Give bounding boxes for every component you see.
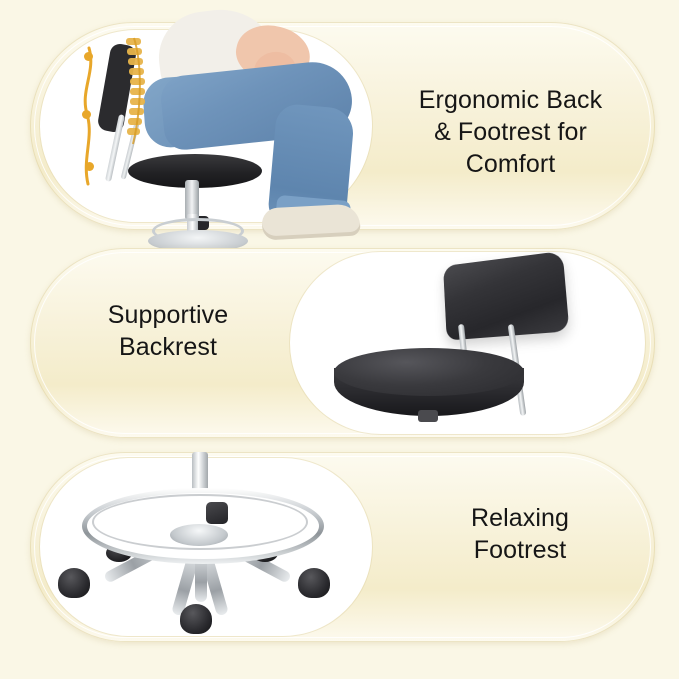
base-hub-shape [170,524,228,546]
caster-wheel-shape [58,568,90,598]
scene-base-footrest [40,458,372,636]
vertebrae-graphic-icon [116,36,156,148]
scene-person-on-stool [40,30,372,222]
scene-seat-backrest [290,252,645,434]
spine-marker-dot [82,110,91,119]
seat-underside-stem-shape [418,410,438,422]
seat-cushion-top-shape [334,348,524,396]
chrome-base-footrest-photo [40,458,372,636]
person-shoe-shape [261,203,361,240]
height-lever-knob-shape [206,502,228,524]
seat-and-backrest-photo [290,252,645,434]
caster-wheel-shape [298,568,330,598]
panel-caption-supportive-backrest: Supportive Backrest [48,300,288,364]
person-seated-on-stool-photo [40,30,372,222]
caster-wheel-shape [180,604,212,634]
feature-collage: Ergonomic Back & Footrest for Comfort Su… [0,0,679,679]
spine-marker-dot [85,162,94,171]
panel-caption-relaxing-footrest: Relaxing Footrest [400,503,640,567]
spine-marker-dot [84,52,93,61]
panel-caption-ergonomic-back-footrest: Ergonomic Back & Footrest for Comfort [383,85,638,180]
